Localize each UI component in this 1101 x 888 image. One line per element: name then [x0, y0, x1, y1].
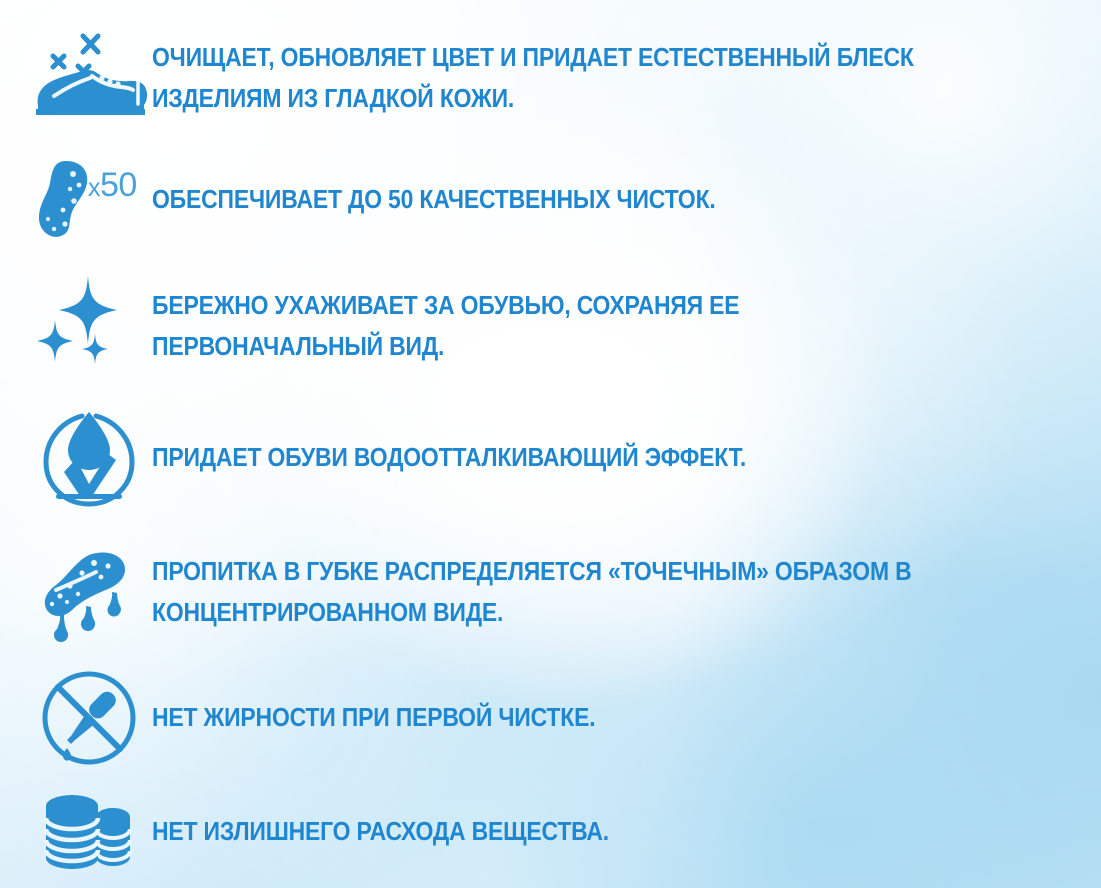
badge-number: 50 — [100, 166, 137, 204]
feature-row: НЕТ ИЗЛИШНЕГО РАСХОДА ВЕЩЕСТВА. — [26, 788, 660, 880]
feature-text: ОБЕСПЕЧИВАЕТ ДО 50 КАЧЕСТВЕННЫХ ЧИСТОК. — [152, 180, 716, 221]
feature-row: x50 ОБЕСПЕЧИВАЕТ ДО 50 КАЧЕСТВЕННЫХ ЧИСТ… — [26, 162, 778, 236]
water-drop-repellent-icon — [26, 406, 152, 510]
feature-text: НЕТ ИЗЛИШНЕГО РАСХОДА ВЕЩЕСТВА. — [152, 812, 609, 853]
feature-row: ОЧИЩАЕТ, ОБНОВЛЯЕТ ЦВЕТ И ПРИДАЕТ ЕСТЕСТ… — [26, 30, 998, 122]
feature-row: НЕТ ЖИРНОСТИ ПРИ ПЕРВОЙ ЧИСТКЕ. — [26, 668, 645, 768]
feature-text: ПРОПИТКА В ГУБКЕ РАСПРЕДЕЛЯЕТСЯ «ТОЧЕЧНЫ… — [152, 550, 912, 634]
feature-row: ПРИДАЕТ ОБУВИ ВОДООТТАЛКИВАЮЩИЙ ЭФФЕКТ. — [26, 406, 812, 510]
dripping-sponge-icon — [26, 540, 152, 644]
feature-text: ПРИДАЕТ ОБУВИ ВОДООТТАЛКИВАЮЩИЙ ЭФФЕКТ. — [152, 438, 746, 479]
feature-row: ПРОПИТКА В ГУБКЕ РАСПРЕДЕЛЯЕТСЯ «ТОЧЕЧНЫ… — [26, 540, 996, 644]
no-dropper-icon — [26, 668, 152, 768]
feature-list: ОЧИЩАЕТ, ОБНОВЛЯЕТ ЦВЕТ И ПРИДАЕТ ЕСТЕСТ… — [0, 0, 1101, 888]
sponge-count-badge: x50 — [88, 168, 137, 202]
feature-text: ОЧИЩАЕТ, ОБНОВЛЯЕТ ЦВЕТ И ПРИДАЕТ ЕСТЕСТ… — [152, 36, 914, 120]
coin-stack-icon — [26, 788, 152, 880]
promo-feature-panel: ОЧИЩАЕТ, ОБНОВЛЯЕТ ЦВЕТ И ПРИДАЕТ ЕСТЕСТ… — [0, 0, 1101, 888]
feature-row: БЕРЕЖНО УХАЖИВАЕТ ЗА ОБУВЬЮ, СОХРАНЯЯ ЕЕ… — [26, 272, 805, 372]
sponge-icon: x50 — [26, 162, 152, 236]
feature-text: БЕРЕЖНО УХАЖИВАЕТ ЗА ОБУВЬЮ, СОХРАНЯЯ ЕЕ… — [152, 284, 739, 368]
dress-shoe-sparkle-icon — [26, 30, 152, 122]
sparkles-icon — [26, 272, 152, 372]
badge-multiplier: x — [88, 174, 100, 202]
feature-text: НЕТ ЖИРНОСТИ ПРИ ПЕРВОЙ ЧИСТКЕ. — [152, 698, 595, 739]
